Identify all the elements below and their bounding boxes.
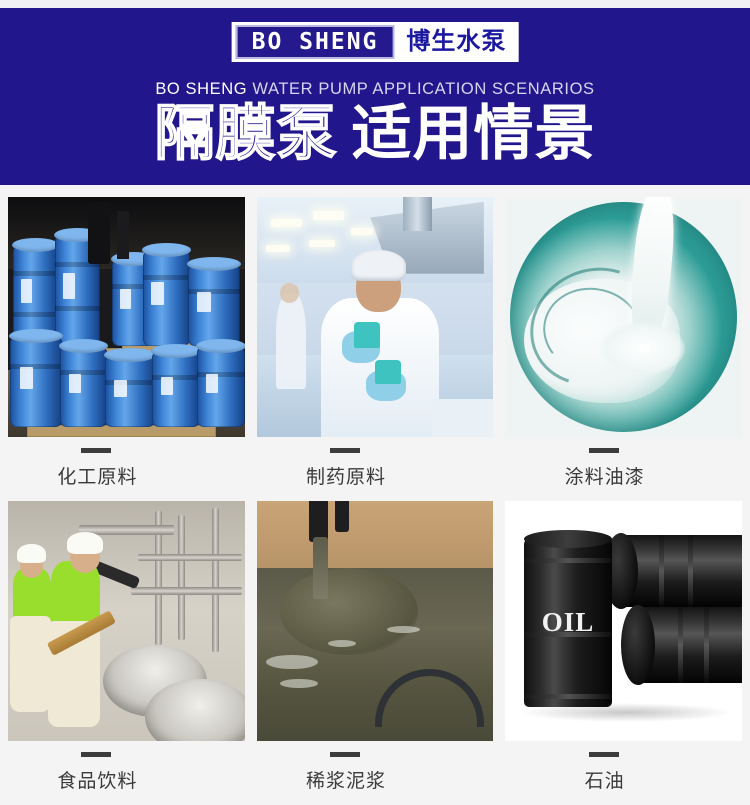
- caption-petroleum: 石油: [505, 741, 742, 805]
- grid-cell-coating-paint: 涂料油漆: [505, 197, 742, 501]
- slurry-artwork: [257, 501, 494, 741]
- banner-title-outline: 隔膜泵: [155, 100, 338, 167]
- caption-text: 食品饮料: [57, 766, 137, 793]
- caption-food-beverage: 食品饮料: [8, 741, 245, 805]
- application-grid: 化工原料: [0, 185, 750, 805]
- banner-subtitle: BO SHENG WATER PUMP APPLICATION SCENARIO…: [0, 80, 750, 99]
- banner-subtitle-rest: WATER PUMP APPLICATION SCENARIOS: [247, 80, 594, 98]
- food-factory-artwork: [8, 501, 245, 741]
- caption-text: 化工原料: [57, 462, 137, 489]
- header-banner: BO SHENG 博生水泵 BO SHENG WATER PUMP APPLIC…: [0, 8, 750, 185]
- pharmaceutical-lab-artwork: [257, 197, 494, 437]
- grid-cell-pharmaceutical-materials: 制药原料: [257, 197, 494, 501]
- caption-bar-icon: [81, 448, 111, 453]
- caption-bar-icon: [589, 752, 619, 757]
- image-paint-pour: [505, 197, 742, 437]
- caption-bar-icon: [330, 752, 360, 757]
- logo-chinese-block: 博生水泵: [394, 22, 518, 62]
- image-pharmaceutical-lab: [257, 197, 494, 437]
- oil-drums-artwork: OIL: [505, 501, 742, 741]
- grid-cell-slurry-mud: 稀浆泥浆: [257, 501, 494, 805]
- image-food-factory: [8, 501, 245, 741]
- oil-drum-label: OIL: [524, 607, 612, 638]
- chemical-drums-artwork: [8, 197, 245, 437]
- product-application-page: BO SHENG 博生水泵 BO SHENG WATER PUMP APPLIC…: [0, 0, 750, 801]
- paint-pour-artwork: [505, 197, 742, 437]
- banner-title-solid: 适用情景: [352, 100, 596, 167]
- banner-subtitle-brand: BO SHENG: [155, 80, 247, 98]
- image-oil-drums: OIL: [505, 501, 742, 741]
- grid-cell-food-beverage: 食品饮料: [8, 501, 245, 805]
- logo-chinese-text: 博生水泵: [406, 30, 506, 54]
- caption-coating-paint: 涂料油漆: [505, 437, 742, 501]
- caption-text: 稀浆泥浆: [306, 766, 386, 793]
- caption-chemical-materials: 化工原料: [8, 437, 245, 501]
- image-slurry: [257, 501, 494, 741]
- logo-english-block: BO SHENG: [236, 25, 395, 59]
- brand-logo: BO SHENG 博生水泵: [232, 22, 519, 62]
- caption-text: 涂料油漆: [565, 462, 645, 489]
- caption-pharmaceutical-materials: 制药原料: [257, 437, 494, 501]
- logo-english-text: BO SHENG: [252, 31, 379, 54]
- caption-bar-icon: [589, 448, 619, 453]
- grid-cell-petroleum: OIL 石油: [505, 501, 742, 805]
- top-spacer-strip: [0, 0, 750, 8]
- caption-text: 制药原料: [306, 462, 386, 489]
- grid-cell-chemical-materials: 化工原料: [8, 197, 245, 501]
- caption-text: 石油: [585, 766, 625, 793]
- image-chemical-drums: [8, 197, 245, 437]
- banner-title: 隔膜泵适用情景: [0, 104, 750, 164]
- caption-bar-icon: [330, 448, 360, 453]
- caption-bar-icon: [81, 752, 111, 757]
- caption-slurry-mud: 稀浆泥浆: [257, 741, 494, 805]
